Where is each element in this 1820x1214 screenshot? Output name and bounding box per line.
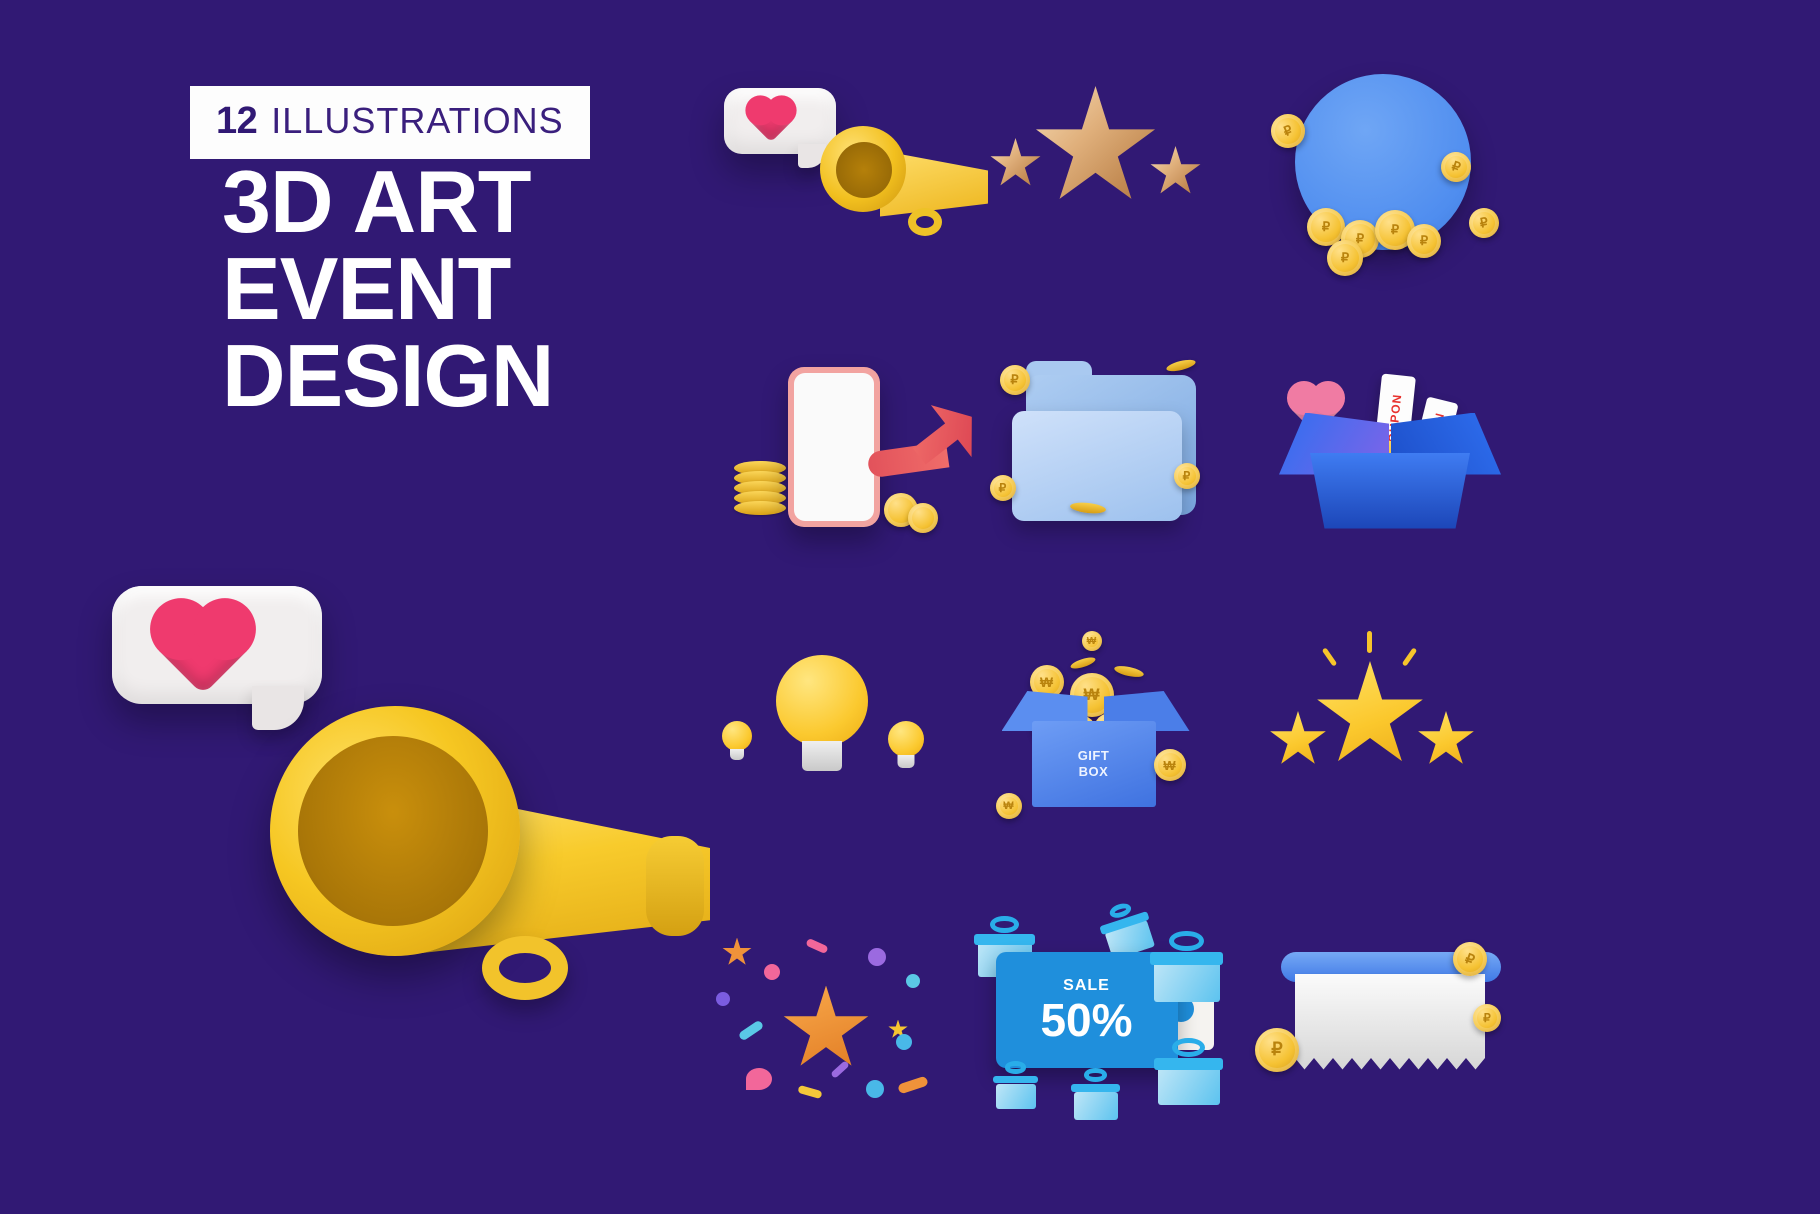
grid-item-idea-bulbs[interactable]	[700, 625, 978, 908]
grid-item-folder-coins[interactable]: ₽ ₽ ₽	[978, 343, 1256, 626]
confetti-icon	[897, 1075, 929, 1094]
badge-count: 12	[216, 100, 257, 143]
confetti-icon	[896, 1034, 912, 1050]
megaphone-icon	[250, 660, 710, 1040]
star-icon	[1315, 661, 1425, 771]
grid-spacer	[1533, 60, 1811, 343]
megaphone-handle	[482, 936, 568, 1000]
gift-icon	[996, 1072, 1036, 1108]
gift-box-label-line1: GIFT	[1078, 748, 1110, 764]
coin-icon	[908, 503, 938, 533]
gift-icon	[1074, 1080, 1118, 1120]
grid-item-bronze-stars[interactable]	[978, 60, 1256, 343]
grid-item-coin-circle[interactable]: ₽ ₽ ₽ ₽ ₽ ₽ ₽ ₽	[1255, 60, 1533, 343]
coin-stack-icon	[734, 461, 786, 521]
confetti-icon	[830, 1060, 850, 1079]
badge-word: ILLUSTRATIONS	[271, 100, 563, 142]
star-icon	[782, 986, 870, 1074]
confetti-icon	[764, 964, 780, 980]
box-body	[1299, 453, 1481, 529]
sale-value: 50%	[1040, 997, 1132, 1043]
grid-item-mobile-growth[interactable]	[700, 343, 978, 626]
gift-box-label-line2: BOX	[1079, 764, 1109, 780]
grid-spacer	[1533, 343, 1811, 626]
grid-item-confetti-star[interactable]	[700, 908, 978, 1191]
scroll-paper	[1295, 974, 1485, 1070]
star-icon	[1034, 86, 1158, 210]
coin-icon	[1069, 655, 1096, 671]
coin-icon	[1113, 664, 1144, 679]
confetti-icon	[866, 1080, 884, 1098]
star-icon	[990, 138, 1042, 190]
sparkle-icon	[1367, 631, 1372, 653]
gift-icon	[1158, 1054, 1220, 1110]
megaphone-mouth	[836, 142, 892, 198]
grid-item-megaphone-message[interactable]	[700, 60, 978, 343]
coin-icon: ₩	[1082, 631, 1102, 651]
grid-item-coupon-box[interactable]: COUPON COUPON	[1255, 343, 1533, 626]
grid-item-yellow-stars[interactable]	[1255, 625, 1533, 908]
title-line-1: 3D ART	[222, 158, 652, 245]
coin-icon	[1165, 357, 1196, 373]
lightbulb-icon	[722, 721, 752, 763]
coupon-body: SALE 50%	[996, 952, 1178, 1068]
confetti-icon	[868, 948, 886, 966]
grid-spacer	[1533, 625, 1811, 908]
coin-icon: ₽	[1255, 1028, 1299, 1072]
sale-label: SALE	[1063, 977, 1110, 995]
gift-icon	[1154, 948, 1220, 1008]
grid-item-gift-box-coins[interactable]: ₩ ₩ ₩ ₩ ₩ ₩ GIFT BOX ₩ ₩	[978, 625, 1256, 908]
sparkle-icon	[1322, 647, 1338, 666]
star-icon	[1269, 711, 1327, 769]
megaphone-cap	[646, 836, 704, 936]
coin-icon: ₽	[1000, 365, 1030, 395]
coin-icon: ₩	[996, 793, 1022, 819]
coin-icon: ₽	[1473, 1004, 1501, 1032]
confetti-icon	[906, 974, 920, 988]
star-icon	[1417, 711, 1475, 769]
folder-icon	[1026, 375, 1196, 515]
sparkle-icon	[1402, 647, 1418, 666]
confetti-icon	[805, 937, 828, 953]
illustration-grid: ₽ ₽ ₽ ₽ ₽ ₽ ₽ ₽	[700, 60, 1810, 1190]
confetti-icon	[797, 1084, 822, 1098]
gift-box-icon: GIFT BOX	[1024, 695, 1164, 807]
megaphone-mouth	[298, 736, 488, 926]
grid-spacer	[1533, 908, 1811, 1191]
grid-item-receipt-scroll[interactable]: ₽ ₽ ₽	[1255, 908, 1533, 1191]
star-icon	[722, 938, 752, 968]
coin-icon: ₽	[1327, 240, 1363, 276]
lightbulb-icon	[888, 721, 924, 771]
coin-icon: ₽	[1466, 205, 1502, 241]
megaphone-handle	[908, 208, 942, 236]
hero-megaphone-illustration	[90, 560, 710, 1060]
title-line-2: EVENT	[222, 245, 652, 332]
megaphone-icon	[820, 118, 990, 258]
title-line-3: DESIGN	[222, 332, 652, 419]
open-box-icon: COUPON COUPON	[1285, 379, 1495, 529]
lightbulb-icon	[776, 655, 868, 777]
coin-icon: ₩	[1154, 749, 1186, 781]
arrow-up-icon	[868, 399, 978, 495]
hero-panel: 12 ILLUSTRATIONS 3D ART EVENT DESIGN	[0, 0, 700, 1214]
grid-item-sale-coupon[interactable]: SALE 50%	[978, 908, 1256, 1191]
gift-box-body: GIFT BOX	[1032, 721, 1156, 807]
star-icon	[1150, 146, 1202, 198]
page-title: 3D ART EVENT DESIGN	[222, 158, 652, 419]
illustration-count-badge: 12 ILLUSTRATIONS	[190, 86, 590, 159]
confetti-icon	[738, 1019, 765, 1041]
phone-screen	[794, 373, 874, 521]
confetti-icon	[746, 1068, 772, 1090]
coin-icon: ₽	[1407, 224, 1441, 258]
confetti-icon	[716, 992, 730, 1006]
coin-icon: ₽	[990, 475, 1016, 501]
phone-icon	[788, 367, 880, 527]
coin-icon: ₽	[1174, 463, 1200, 489]
